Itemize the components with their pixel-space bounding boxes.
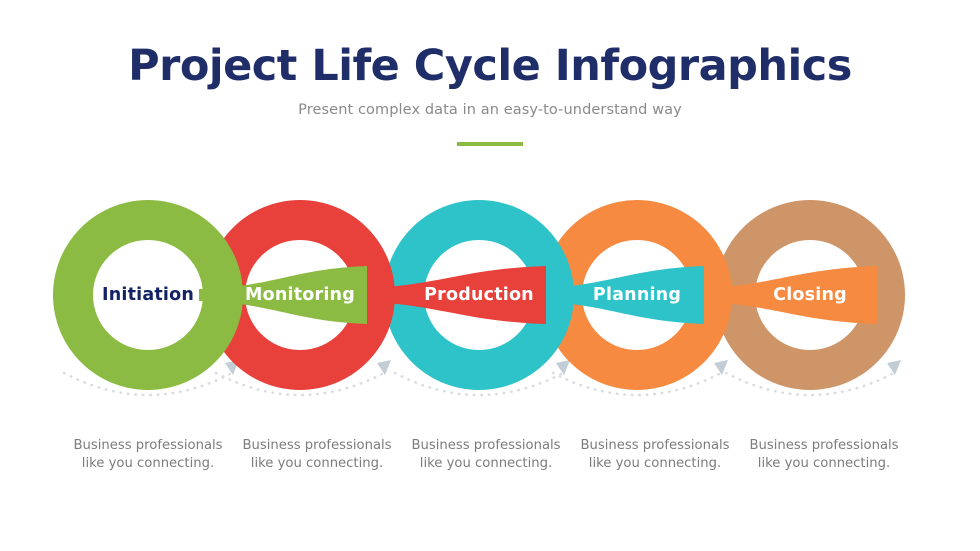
chain-diagram-svg [0, 160, 980, 420]
caption-line-1: Business professionals [402, 437, 571, 455]
slide-header: Project Life Cycle Infographics Present … [0, 0, 980, 151]
caption-line-2: like you connecting. [64, 455, 233, 473]
step-caption: Business professionalslike you connectin… [740, 437, 909, 473]
caption-line-2: like you connecting. [740, 455, 909, 473]
captions-row: Business professionalslike you connectin… [0, 437, 980, 473]
chain-diagram [0, 160, 980, 420]
step-caption: Business professionalslike you connectin… [233, 437, 402, 473]
step-caption: Business professionalslike you connectin… [402, 437, 571, 473]
title-divider-wrap [0, 118, 980, 151]
caption-line-2: like you connecting. [233, 455, 402, 473]
caption-line-1: Business professionals [64, 437, 233, 455]
arrow-head-icon [556, 360, 570, 375]
arrow-head-icon [887, 360, 901, 375]
caption-line-1: Business professionals [571, 437, 740, 455]
step-caption: Business professionalslike you connectin… [571, 437, 740, 473]
arrow-head-icon [377, 360, 391, 375]
page-subtitle: Present complex data in an easy-to-under… [0, 91, 980, 118]
step-caption: Business professionalslike you connectin… [64, 437, 233, 473]
title-divider [457, 142, 523, 146]
page-title: Project Life Cycle Infographics [0, 0, 980, 91]
caption-line-2: like you connecting. [571, 455, 740, 473]
caption-line-2: like you connecting. [402, 455, 571, 473]
caption-line-1: Business professionals [233, 437, 402, 455]
infographic-slide: Project Life Cycle Infographics Present … [0, 0, 980, 551]
caption-line-1: Business professionals [740, 437, 909, 455]
